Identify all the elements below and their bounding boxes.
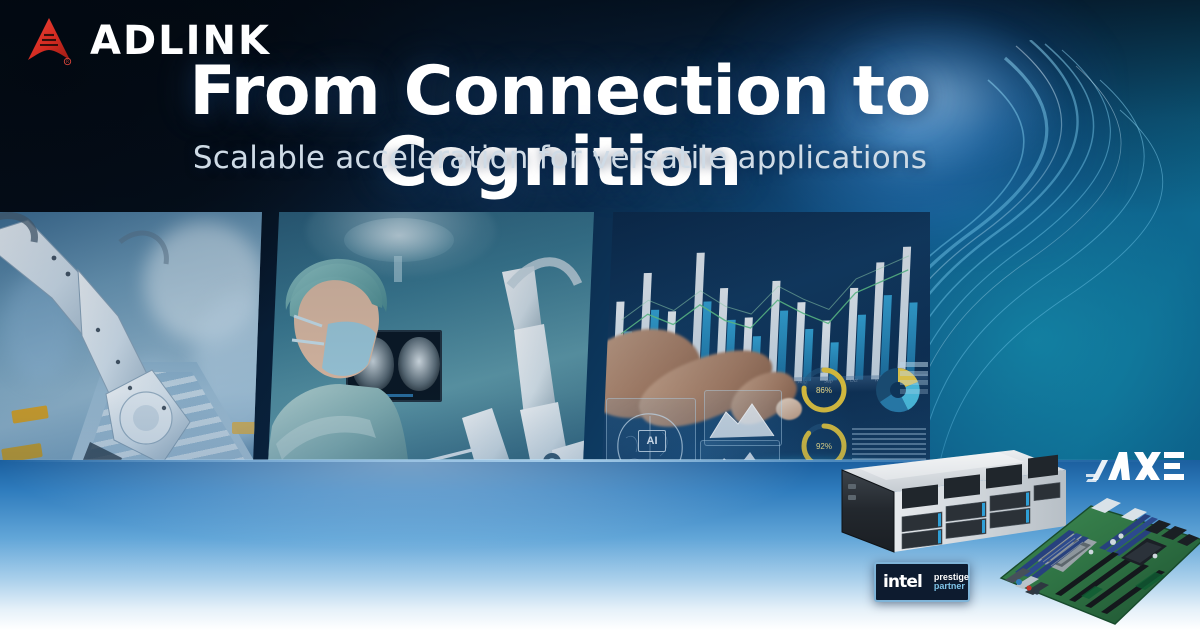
page-subtitle: Scalable acceleration for versatile appl…	[0, 140, 1120, 176]
page-title: From Connection to Cognition	[0, 56, 1120, 199]
intel-partner-tier: prestige partner	[934, 573, 969, 592]
axe-logo	[1086, 446, 1186, 486]
marketing-banner: R ADLINK From Connection to Cognition Sc…	[0, 0, 1200, 630]
server-motherboard-image	[995, 486, 1200, 630]
intel-prestige-partner-badge: intel prestige partner	[874, 562, 970, 602]
intel-tier-line2: partner	[934, 582, 969, 591]
intel-wordmark: intel	[883, 574, 922, 591]
